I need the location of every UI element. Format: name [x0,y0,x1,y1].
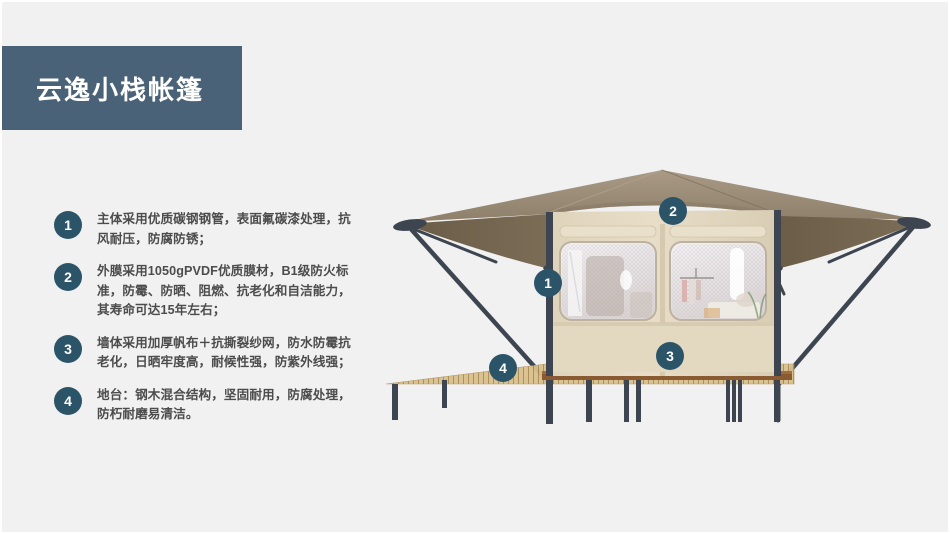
tension-poles-ground [550,384,778,420]
page-title: 云逸小栈帐篷 [36,70,204,107]
feature-list: 1 主体采用优质碳钢钢管，表面氟碳漆处理，抗风耐压，防腐防锈； 2 外膜采用10… [54,210,354,438]
title-bar: 云逸小栈帐篷 [2,46,242,130]
feature-number-badge: 1 [54,211,82,239]
callout-pin-1[interactable]: 1 [534,269,562,297]
tent-drawing [374,152,950,452]
feature-number-badge: 3 [54,335,82,363]
slide-canvas: 云逸小栈帐篷 1 主体采用优质碳钢钢管，表面氟碳漆处理，抗风耐压，防腐防锈； 2… [0,0,950,534]
feature-description: 外膜采用1050gPVDF优质膜材，B1级防火标准，防霉、防晒、阻燃、抗老化和自… [97,262,354,321]
window-right [670,242,766,320]
list-item: 4 地台：钢木混合结构，坚固耐用，防腐处理，防朽耐磨易清洁。 [54,386,354,425]
tent-illustration: 1 2 3 4 [374,152,950,452]
list-item: 2 外膜采用1050gPVDF优质膜材，B1级防火标准，防霉、防晒、阻燃、抗老化… [54,262,354,321]
callout-pin-2[interactable]: 2 [659,197,687,225]
list-item: 3 墙体采用加厚帆布＋抗撕裂纱网，防水防霉抗老化，日晒牢度高，耐候性强，防紫外线… [54,334,354,373]
feature-description: 墙体采用加厚帆布＋抗撕裂纱网，防水防霉抗老化，日晒牢度高，耐候性强，防紫外线强； [97,334,354,373]
feature-description: 主体采用优质碳钢钢管，表面氟碳漆处理，抗风耐压，防腐防锈； [97,210,354,249]
feature-description: 地台：钢木混合结构，坚固耐用，防腐处理，防朽耐磨易清洁。 [97,386,354,425]
feature-number-badge: 2 [54,263,82,291]
window-left [560,242,656,320]
callout-pin-4[interactable]: 4 [489,354,517,382]
feature-number-badge: 4 [54,387,82,415]
support-piles [392,380,780,424]
list-item: 1 主体采用优质碳钢钢管，表面氟碳漆处理，抗风耐压，防腐防锈； [54,210,354,249]
callout-pin-3[interactable]: 3 [656,342,684,370]
